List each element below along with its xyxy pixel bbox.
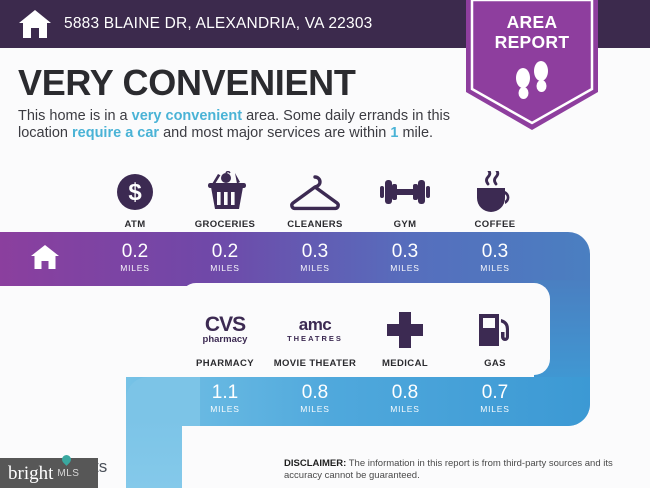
home-icon (18, 8, 52, 40)
distance-value: 0.2 (122, 242, 148, 262)
atm-icon: $ (115, 170, 155, 214)
distance-unit: MILES (390, 263, 420, 273)
medical-cross-icon (385, 307, 425, 353)
subtitle-part-3: and most major services are within (159, 125, 390, 141)
logo-bright-text: bright (8, 464, 53, 483)
distance-unit: MILES (390, 404, 420, 414)
svg-text:THEATRES: THEATRES (287, 334, 343, 343)
distance-cell-movie-theater: 0.8 MILES (270, 377, 360, 419)
distance-cell-cleaners: 0.3 MILES (270, 232, 360, 282)
amenity-label: GAS (484, 358, 506, 369)
amenity-icon-row-2: CVS pharmacy PHARMACY amc THEATRES MOVIE… (180, 283, 550, 375)
page-title: VERY CONVENIENT (18, 62, 356, 104)
distance-cell-medical: 0.8 MILES (360, 377, 450, 419)
amenity-atm: $ ATM (90, 162, 180, 230)
distance-value: 0.3 (482, 242, 508, 262)
subtitle-part-1: This home is in a (18, 108, 132, 124)
distance-unit: MILES (300, 404, 330, 414)
coffee-icon (472, 170, 518, 214)
distance-value: 1.1 (212, 383, 238, 403)
badge-line-1: AREA (507, 12, 558, 32)
amenity-label: GROCERIES (195, 219, 256, 230)
amenity-pharmacy: CVS pharmacy PHARMACY (180, 307, 270, 375)
distance-value: 0.7 (482, 383, 508, 403)
groceries-icon (202, 170, 248, 214)
cleaners-icon (289, 170, 341, 214)
svg-text:amc: amc (299, 315, 332, 334)
amenity-label: MEDICAL (382, 358, 428, 369)
amenity-groceries: GROCERIES (180, 162, 270, 230)
subtitle-highlight-1: very convenient (132, 108, 242, 124)
amenity-label: GYM (394, 219, 417, 230)
distance-cell-pharmacy: 1.1 MILES (180, 377, 270, 419)
distance-unit: MILES (120, 263, 150, 273)
amenity-label: CLEANERS (287, 219, 342, 230)
amenity-movie-theater: amc THEATRES MOVIE THEATER (270, 307, 360, 375)
svg-text:CVS: CVS (205, 313, 246, 336)
distance-cell-gas: 0.7 MILES (450, 377, 540, 419)
disclaimer-label: DISCLAIMER: (284, 458, 346, 469)
distance-unit: MILES (480, 263, 510, 273)
distance-cell-groceries: 0.2 MILES (180, 232, 270, 282)
badge-title: AREA REPORT (466, 12, 598, 52)
bright-mls-logo: bright MLS (0, 458, 98, 488)
amenity-coffee: COFFEE (450, 162, 540, 230)
cvs-pharmacy-logo: CVS pharmacy (192, 307, 258, 353)
subtitle-part-4: mile. (398, 125, 433, 141)
area-report-page: 5883 BLAINE DR, ALEXANDRIA, VA 22303 ARE… (0, 0, 650, 488)
distance-cell-atm: 0.2 MILES (90, 232, 180, 282)
distance-bar-row-1: 0.2 MILES 0.2 MILES 0.3 MILES 0.3 MILES … (0, 232, 540, 282)
distance-unit: MILES (300, 263, 330, 273)
amenity-cleaners: CLEANERS (270, 162, 360, 230)
header-address: 5883 BLAINE DR, ALEXANDRIA, VA 22303 (64, 15, 372, 33)
distance-bar-row-2: 1.1 MILES 0.8 MILES 0.8 MILES 0.7 MILES (180, 377, 540, 419)
amenity-gym: GYM (360, 162, 450, 230)
amenity-label: COFFEE (475, 219, 516, 230)
distance-cell-gym: 0.3 MILES (360, 232, 450, 282)
distance-value: 0.8 (302, 383, 328, 403)
disclaimer: DISCLAIMER: The information in this repo… (284, 458, 634, 482)
distance-value: 0.8 (392, 383, 418, 403)
distance-value: 0.3 (392, 242, 418, 262)
svg-text:pharmacy: pharmacy (203, 334, 249, 345)
area-report-badge: AREA REPORT (466, 0, 598, 130)
amenity-label: MOVIE THEATER (274, 358, 357, 369)
distance-unit: MILES (480, 404, 510, 414)
amenity-label: PHARMACY (196, 358, 254, 369)
gym-icon (379, 170, 431, 214)
home-icon (30, 243, 60, 271)
amenity-medical: MEDICAL (360, 307, 450, 375)
amenity-label: ATM (124, 219, 145, 230)
distance-cell-coffee: 0.3 MILES (450, 232, 540, 282)
amc-theatres-logo: amc THEATRES (280, 307, 350, 353)
distance-value: 0.2 (212, 242, 238, 262)
amenity-icon-row-1: $ ATM (90, 162, 540, 230)
amenity-gas: GAS (450, 307, 540, 375)
svg-text:$: $ (128, 179, 142, 206)
ribbon-home-marker (0, 232, 90, 282)
logo-mls-text: MLS (57, 468, 79, 479)
subtitle-highlight-2: require a car (72, 125, 159, 141)
distance-unit: MILES (210, 263, 240, 273)
badge-line-2: REPORT (495, 32, 570, 52)
distance-unit: MILES (210, 404, 240, 414)
distance-value: 0.3 (302, 242, 328, 262)
page-subtitle: This home is in a very convenient area. … (18, 108, 468, 142)
gas-pump-icon (475, 307, 515, 353)
